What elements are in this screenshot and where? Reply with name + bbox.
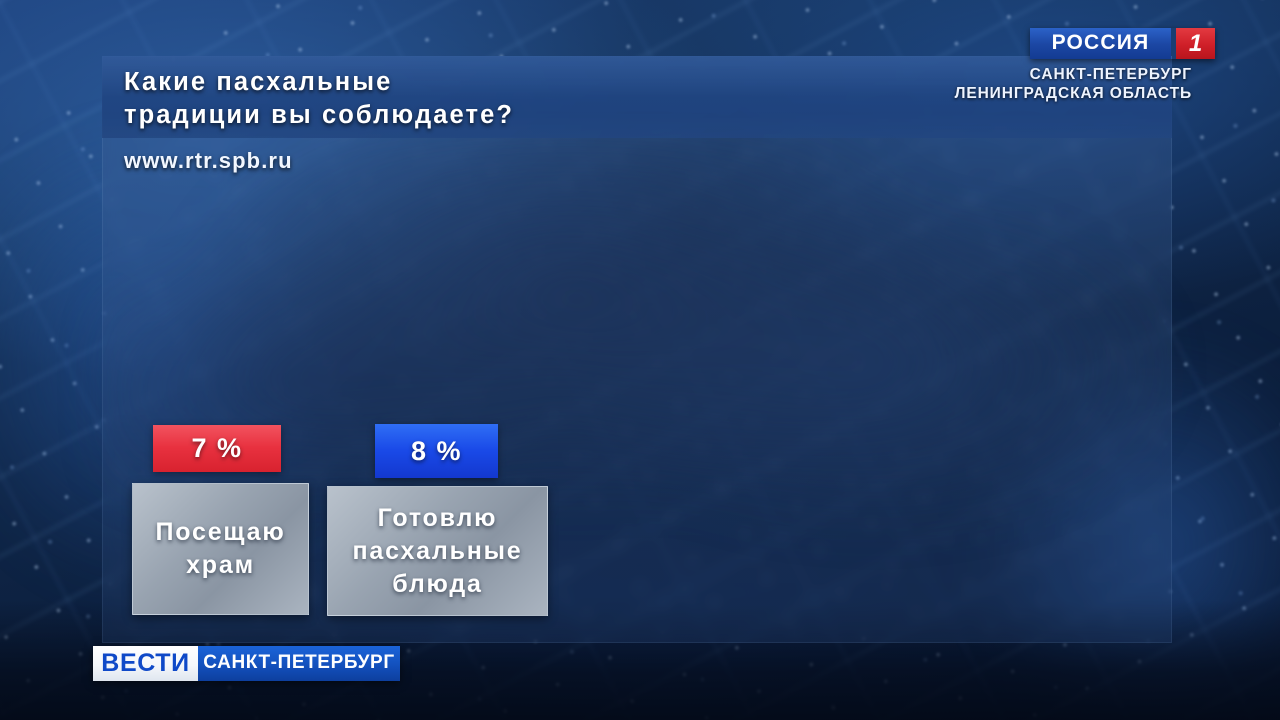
bar-value-1: 7 %	[153, 425, 281, 472]
region-label-oblast: ЛЕНИНГРАДСКАЯ ОБЛАСТЬ	[955, 85, 1192, 103]
channel-number-badge: 1	[1176, 28, 1215, 59]
bar-label-1: Посещаю храм	[132, 483, 309, 615]
bar-label-2: Готовлю пасхальные блюда	[327, 486, 548, 616]
bar-value-2: 8 %	[375, 424, 498, 478]
ticker-city-label: САНКТ-ПЕТЕРБУРГ	[198, 646, 400, 681]
channel-name-rossiya: РОССИЯ	[1030, 28, 1171, 59]
channel-logo: РОССИЯ 1	[1030, 28, 1215, 59]
poll-bar-chart: 7 % Посещаю храм 8 % Готовлю пасхальные …	[102, 56, 1172, 643]
poll-panel: Какие пасхальные традиции вы соблюдаете?…	[102, 56, 1172, 643]
program-ticker: ВЕСТИ САНКТ-ПЕТЕРБУРГ	[93, 646, 400, 681]
ticker-program-label: ВЕСТИ	[93, 646, 198, 681]
broadcast-screen: Какие пасхальные традиции вы соблюдаете?…	[0, 0, 1280, 720]
region-label-city: САНКТ-ПЕТЕРБУРГ	[1030, 66, 1192, 84]
